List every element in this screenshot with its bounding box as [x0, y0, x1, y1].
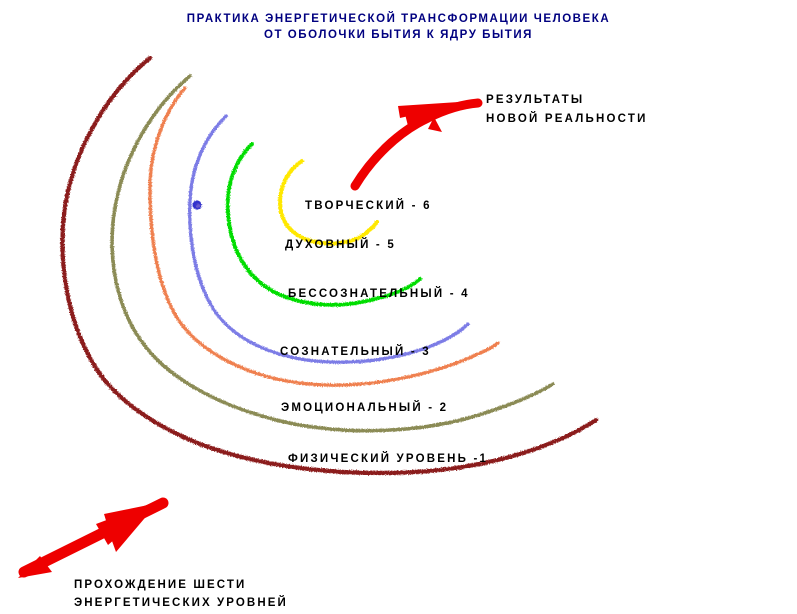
- level-arc-5: [228, 144, 420, 305]
- level-label-4: БЕССОЗНАТЕЛЬНЫЙ - 4: [288, 289, 470, 301]
- diagram-canvas: ПРАКТИКА ЭНЕРГЕТИЧЕСКОЙ ТРАНСФОРМАЦИИ ЧЕ…: [0, 0, 797, 614]
- level-arc-2: [112, 76, 553, 431]
- page-title-line-1: ПРАКТИКА ЭНЕРГЕТИЧЕСКОЙ ТРАНСФОРМАЦИИ ЧЕ…: [0, 14, 797, 26]
- result-callout-line-1: РЕЗУЛЬТАТЫ: [486, 95, 584, 107]
- bottom-callout-line-1: ПРОХОЖДЕНИЕ ШЕСТИ: [74, 580, 246, 592]
- result-arrow: [355, 101, 478, 186]
- page-title-line-2: ОТ ОБОЛОЧКИ БЫТИЯ К ЯДРУ БЫТИЯ: [0, 30, 797, 42]
- level-label-1: ФИЗИЧЕСКИЙ УРОВЕНЬ -1: [288, 454, 488, 466]
- level-label-3: СОЗНАТЕЛЬНЫЙ - 3: [280, 347, 431, 359]
- result-callout-line-2: НОВОЙ РЕАЛЬНОСТИ: [486, 114, 648, 126]
- level-label-5: ДУХОВНЫЙ - 5: [285, 240, 396, 252]
- center-dot: [192, 200, 201, 209]
- bottom-callout-line-2: ЭНЕРГЕТИЧЕСКИХ УРОВНЕЙ: [74, 598, 288, 610]
- passage-arrow: [18, 500, 163, 578]
- spiral-artwork: [0, 0, 797, 614]
- level-label-2: ЭМОЦИОНАЛЬНЫЙ - 2: [281, 403, 448, 415]
- level-label-6: ТВОРЧЕСКИЙ - 6: [305, 201, 432, 213]
